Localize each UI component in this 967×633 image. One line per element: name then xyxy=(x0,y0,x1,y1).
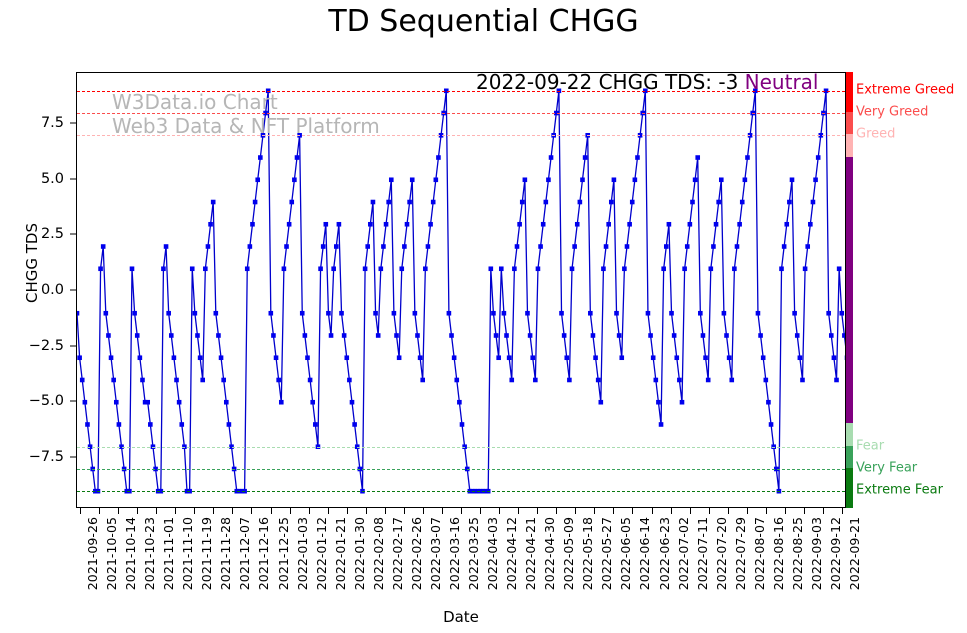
watermark-line-1: W3Data.io Chart xyxy=(112,90,278,114)
data-point xyxy=(269,311,274,316)
x-tick-label: 2022-07-02 xyxy=(676,517,691,590)
x-tick-mark xyxy=(747,508,748,514)
data-point xyxy=(630,200,635,205)
data-point xyxy=(703,355,708,360)
data-point xyxy=(549,155,554,160)
threshold-line-very-fear xyxy=(77,469,845,470)
data-point xyxy=(379,266,384,271)
data-point xyxy=(452,355,457,360)
data-point xyxy=(98,266,103,271)
data-point xyxy=(148,422,153,427)
data-point xyxy=(507,355,512,360)
x-tick-label: 2021-09-26 xyxy=(85,517,100,590)
data-point xyxy=(515,244,520,249)
x-tick-label: 2022-05-27 xyxy=(599,517,614,590)
data-point xyxy=(313,422,318,427)
x-tick-label: 2022-06-23 xyxy=(657,517,672,590)
data-point xyxy=(365,244,370,249)
data-point xyxy=(117,422,122,427)
data-point xyxy=(517,222,522,227)
data-point xyxy=(622,266,627,271)
data-point xyxy=(410,177,415,182)
x-tick-label: 2021-10-23 xyxy=(142,517,157,590)
data-point xyxy=(292,177,297,182)
data-point xyxy=(698,311,703,316)
x-tick-mark xyxy=(251,508,252,514)
x-tick-mark xyxy=(423,508,424,514)
x-tick-label: 2022-05-09 xyxy=(561,517,576,590)
data-point xyxy=(575,222,580,227)
x-tick-label: 2021-11-28 xyxy=(218,517,233,590)
data-point xyxy=(352,422,357,427)
x-tick-label: 2022-01-03 xyxy=(295,517,310,590)
data-point xyxy=(494,333,499,338)
x-tick-label: 2021-12-25 xyxy=(276,517,291,590)
data-point xyxy=(761,355,766,360)
data-point xyxy=(303,333,308,338)
data-point xyxy=(656,400,661,405)
x-tick-label: 2021-11-01 xyxy=(161,517,176,590)
x-tick-mark xyxy=(137,508,138,514)
x-tick-label: 2021-12-07 xyxy=(237,517,252,590)
data-point xyxy=(601,266,606,271)
data-point xyxy=(195,333,200,338)
x-tick-label: 2022-01-30 xyxy=(352,517,367,590)
data-point xyxy=(536,266,541,271)
data-point xyxy=(808,222,813,227)
data-point xyxy=(489,266,494,271)
x-tick-mark xyxy=(671,508,672,514)
x-tick-label: 2022-07-20 xyxy=(714,517,729,590)
data-point xyxy=(132,311,137,316)
data-point xyxy=(245,266,250,271)
data-point xyxy=(138,355,143,360)
page-title: TD Sequential CHGG xyxy=(0,4,967,39)
data-point xyxy=(523,177,528,182)
data-point xyxy=(434,177,439,182)
data-point xyxy=(596,378,601,383)
data-point xyxy=(457,400,462,405)
data-point xyxy=(499,266,504,271)
zone-bar-segment xyxy=(846,468,853,508)
data-point xyxy=(811,200,816,205)
data-point xyxy=(816,155,821,160)
zone-bar-segment xyxy=(846,423,853,445)
data-point xyxy=(83,400,88,405)
data-point xyxy=(612,177,617,182)
data-point xyxy=(339,311,344,316)
data-point xyxy=(179,422,184,427)
data-point xyxy=(520,200,525,205)
y-tick-label: 7.5 xyxy=(41,115,64,131)
data-point xyxy=(719,177,724,182)
data-point xyxy=(389,177,394,182)
data-point xyxy=(324,222,329,227)
data-point xyxy=(591,333,596,338)
data-point xyxy=(161,266,166,271)
x-tick-mark xyxy=(518,508,519,514)
data-point xyxy=(460,422,465,427)
data-point xyxy=(544,200,549,205)
data-point xyxy=(397,355,402,360)
x-tick-mark xyxy=(728,508,729,514)
data-point xyxy=(803,266,808,271)
data-point xyxy=(769,422,774,427)
x-tick-mark xyxy=(404,508,405,514)
data-point xyxy=(344,355,349,360)
x-tick-label: 2021-10-14 xyxy=(123,517,138,590)
data-point xyxy=(347,378,352,383)
data-point xyxy=(512,266,517,271)
data-point xyxy=(727,355,732,360)
data-point xyxy=(423,266,428,271)
data-point xyxy=(284,244,289,249)
data-point xyxy=(633,177,638,182)
x-tick-mark xyxy=(480,508,481,514)
zone-bar-segment xyxy=(846,134,853,156)
data-point xyxy=(829,333,834,338)
data-point xyxy=(724,333,729,338)
data-point xyxy=(331,266,336,271)
data-point xyxy=(211,200,216,205)
x-tick-label: 2022-03-07 xyxy=(428,517,443,590)
x-tick-label: 2021-12-16 xyxy=(256,517,271,590)
x-tick-mark xyxy=(309,508,310,514)
data-point xyxy=(326,311,331,316)
data-point xyxy=(837,266,842,271)
data-point xyxy=(729,378,734,383)
data-point xyxy=(530,355,535,360)
data-point xyxy=(572,244,577,249)
series-line xyxy=(77,91,845,491)
data-point xyxy=(300,311,305,316)
data-point xyxy=(219,355,224,360)
data-point xyxy=(140,378,145,383)
x-tick-mark xyxy=(442,508,443,514)
data-point xyxy=(525,311,530,316)
data-point xyxy=(790,177,795,182)
x-tick-mark xyxy=(823,508,824,514)
data-point xyxy=(764,378,769,383)
data-point xyxy=(606,222,611,227)
y-tick-label: 5.0 xyxy=(41,171,64,187)
data-point xyxy=(800,378,805,383)
data-point xyxy=(271,333,276,338)
data-point xyxy=(654,378,659,383)
data-point xyxy=(743,177,748,182)
y-axis-label: CHGG TDS xyxy=(23,45,41,481)
data-point xyxy=(426,244,431,249)
data-point xyxy=(287,222,292,227)
data-point xyxy=(392,311,397,316)
data-point xyxy=(813,177,818,182)
data-point xyxy=(394,333,399,338)
data-point xyxy=(368,222,373,227)
data-point xyxy=(402,244,407,249)
data-point xyxy=(169,333,174,338)
x-tick-mark xyxy=(804,508,805,514)
data-point xyxy=(295,155,300,160)
data-point xyxy=(664,244,669,249)
x-tick-label: 2022-06-05 xyxy=(618,517,633,590)
x-tick-label: 2022-04-12 xyxy=(504,517,519,590)
data-point xyxy=(504,333,509,338)
x-tick-mark xyxy=(118,508,119,514)
data-point xyxy=(693,177,698,182)
x-tick-mark xyxy=(385,508,386,514)
data-point xyxy=(578,200,583,205)
data-point xyxy=(614,311,619,316)
x-tick-mark xyxy=(690,508,691,514)
data-point xyxy=(690,200,695,205)
y-tick-label: −5.0 xyxy=(29,393,64,409)
x-tick-label: 2022-02-17 xyxy=(390,517,405,590)
data-point xyxy=(716,200,721,205)
data-point xyxy=(85,422,90,427)
x-tick-mark xyxy=(766,508,767,514)
data-point xyxy=(533,378,538,383)
data-point xyxy=(651,355,656,360)
x-tick-mark xyxy=(537,508,538,514)
x-tick-label: 2022-03-16 xyxy=(447,517,462,590)
x-tick-label: 2022-02-08 xyxy=(371,517,386,590)
data-point xyxy=(373,311,378,316)
data-point xyxy=(363,266,368,271)
data-point xyxy=(198,355,203,360)
data-point xyxy=(701,333,706,338)
threshold-line-extreme-fear xyxy=(77,491,845,492)
data-point xyxy=(258,155,263,160)
data-point xyxy=(798,355,803,360)
data-point xyxy=(826,311,831,316)
data-point xyxy=(659,422,664,427)
data-point xyxy=(792,311,797,316)
data-point xyxy=(208,222,213,227)
data-point xyxy=(580,177,585,182)
data-point xyxy=(279,400,284,405)
data-point xyxy=(588,311,593,316)
data-point xyxy=(276,378,281,383)
data-point xyxy=(106,333,111,338)
data-point xyxy=(318,266,323,271)
data-point xyxy=(682,266,687,271)
data-point xyxy=(447,311,452,316)
data-point xyxy=(502,311,507,316)
y-tick-label: 2.5 xyxy=(41,226,64,242)
zone-label-extreme-greed: Extreme Greed xyxy=(856,82,954,97)
data-point xyxy=(570,266,575,271)
x-tick-label: 2022-06-14 xyxy=(637,517,652,590)
data-point xyxy=(795,333,800,338)
x-tick-mark xyxy=(328,508,329,514)
data-point xyxy=(384,222,389,227)
plot-clip xyxy=(77,73,845,507)
data-point xyxy=(203,266,208,271)
data-point xyxy=(80,378,85,383)
x-tick-label: 2022-08-25 xyxy=(790,517,805,590)
data-point xyxy=(528,333,533,338)
data-point xyxy=(680,400,685,405)
data-point xyxy=(454,378,459,383)
y-axis: CHGG TDS −7.5−5.0−2.50.02.55.07.5 xyxy=(0,72,76,508)
x-tick-mark xyxy=(366,508,367,514)
data-point xyxy=(174,378,179,383)
data-point xyxy=(674,355,679,360)
data-point xyxy=(214,311,219,316)
data-point xyxy=(431,200,436,205)
data-point xyxy=(661,266,666,271)
x-tick-mark xyxy=(271,508,272,514)
zone-label-fear: Fear xyxy=(856,438,884,453)
data-point xyxy=(172,355,177,360)
x-tick-label: 2022-08-07 xyxy=(752,517,767,590)
data-point xyxy=(420,378,425,383)
zone-bar-segment xyxy=(846,72,853,112)
x-tick-label: 2022-09-12 xyxy=(828,517,843,590)
data-point xyxy=(216,333,221,338)
data-point xyxy=(496,355,501,360)
annotation-sentiment: Neutral xyxy=(745,70,819,94)
data-point xyxy=(669,311,674,316)
data-point xyxy=(282,266,287,271)
data-point xyxy=(350,400,355,405)
data-point xyxy=(248,244,253,249)
data-point xyxy=(599,400,604,405)
data-point xyxy=(609,200,614,205)
data-point xyxy=(688,222,693,227)
data-point xyxy=(635,155,640,160)
data-point xyxy=(177,400,182,405)
data-point xyxy=(564,355,569,360)
data-point xyxy=(711,244,716,249)
x-tick-mark xyxy=(632,508,633,514)
data-point xyxy=(193,311,198,316)
x-tick-mark xyxy=(461,508,462,514)
x-tick-mark xyxy=(99,508,100,514)
data-point xyxy=(491,311,496,316)
data-point xyxy=(376,333,381,338)
x-tick-mark xyxy=(785,508,786,514)
data-point xyxy=(342,333,347,338)
data-point xyxy=(255,177,260,182)
x-tick-label: 2022-04-21 xyxy=(523,517,538,590)
data-point xyxy=(604,244,609,249)
data-point xyxy=(546,177,551,182)
data-point xyxy=(436,155,441,160)
data-point xyxy=(227,422,232,427)
data-point xyxy=(737,222,742,227)
y-tick-label: −2.5 xyxy=(29,338,64,354)
x-tick-mark xyxy=(80,508,81,514)
data-point xyxy=(766,400,771,405)
data-point xyxy=(735,244,740,249)
data-point xyxy=(782,244,787,249)
zone-label-very-greed: Very Greed xyxy=(856,105,928,120)
data-point xyxy=(714,222,719,227)
data-point xyxy=(784,222,789,227)
data-point xyxy=(321,244,326,249)
data-point xyxy=(832,355,837,360)
current-value-annotation: 2022-09-22 CHGG TDS: -3 Neutral xyxy=(476,70,818,94)
zone-label-very-fear: Very Fear xyxy=(856,460,917,475)
data-point xyxy=(415,333,420,338)
zone-label-greed: Greed xyxy=(856,127,895,142)
data-point xyxy=(428,222,433,227)
data-point xyxy=(617,333,622,338)
threshold-line-fear xyxy=(77,447,845,448)
x-tick-label: 2021-11-10 xyxy=(180,517,195,590)
data-point xyxy=(756,311,761,316)
x-axis-label: Date xyxy=(76,608,846,626)
x-tick-label: 2022-07-29 xyxy=(733,517,748,590)
data-point xyxy=(386,200,391,205)
x-tick-mark xyxy=(347,508,348,514)
y-tick-label: 0.0 xyxy=(41,282,64,298)
data-point xyxy=(371,200,376,205)
data-point xyxy=(648,333,653,338)
data-point xyxy=(672,333,677,338)
data-point xyxy=(619,355,624,360)
data-point xyxy=(567,378,572,383)
x-tick-label: 2022-03-25 xyxy=(466,517,481,590)
x-tick-label: 2022-01-21 xyxy=(333,517,348,590)
data-point xyxy=(289,200,294,205)
x-tick-mark xyxy=(290,508,291,514)
data-point xyxy=(583,155,588,160)
data-point xyxy=(77,311,79,316)
data-point xyxy=(166,311,171,316)
data-point xyxy=(334,244,339,249)
x-tick-mark xyxy=(575,508,576,514)
x-tick-label: 2022-02-26 xyxy=(409,517,424,590)
data-point xyxy=(274,355,279,360)
data-point xyxy=(449,333,454,338)
data-point xyxy=(135,333,140,338)
x-tick-mark xyxy=(156,508,157,514)
data-point xyxy=(104,311,109,316)
x-tick-label: 2022-04-30 xyxy=(542,517,557,590)
data-point xyxy=(834,378,839,383)
data-point xyxy=(758,333,763,338)
data-point xyxy=(842,333,845,338)
data-point xyxy=(130,266,135,271)
data-point xyxy=(405,222,410,227)
data-point xyxy=(190,266,195,271)
data-point xyxy=(250,222,255,227)
x-tick-label: 2022-05-18 xyxy=(580,517,595,590)
data-point xyxy=(787,200,792,205)
data-point xyxy=(740,200,745,205)
zone-bar-segment xyxy=(846,157,853,424)
data-point xyxy=(413,311,418,316)
data-point xyxy=(381,244,386,249)
data-point xyxy=(206,244,211,249)
data-point xyxy=(337,222,342,227)
x-tick-mark xyxy=(194,508,195,514)
x-tick-mark xyxy=(842,508,843,514)
data-point xyxy=(695,155,700,160)
data-point xyxy=(253,200,258,205)
x-tick-label: 2022-01-12 xyxy=(314,517,329,590)
data-point xyxy=(101,244,106,249)
data-point xyxy=(706,378,711,383)
data-point xyxy=(310,400,315,405)
data-point xyxy=(779,266,784,271)
x-tick-mark xyxy=(652,508,653,514)
data-point xyxy=(625,244,630,249)
data-point xyxy=(732,266,737,271)
x-tick-label: 2022-04-03 xyxy=(485,517,500,590)
